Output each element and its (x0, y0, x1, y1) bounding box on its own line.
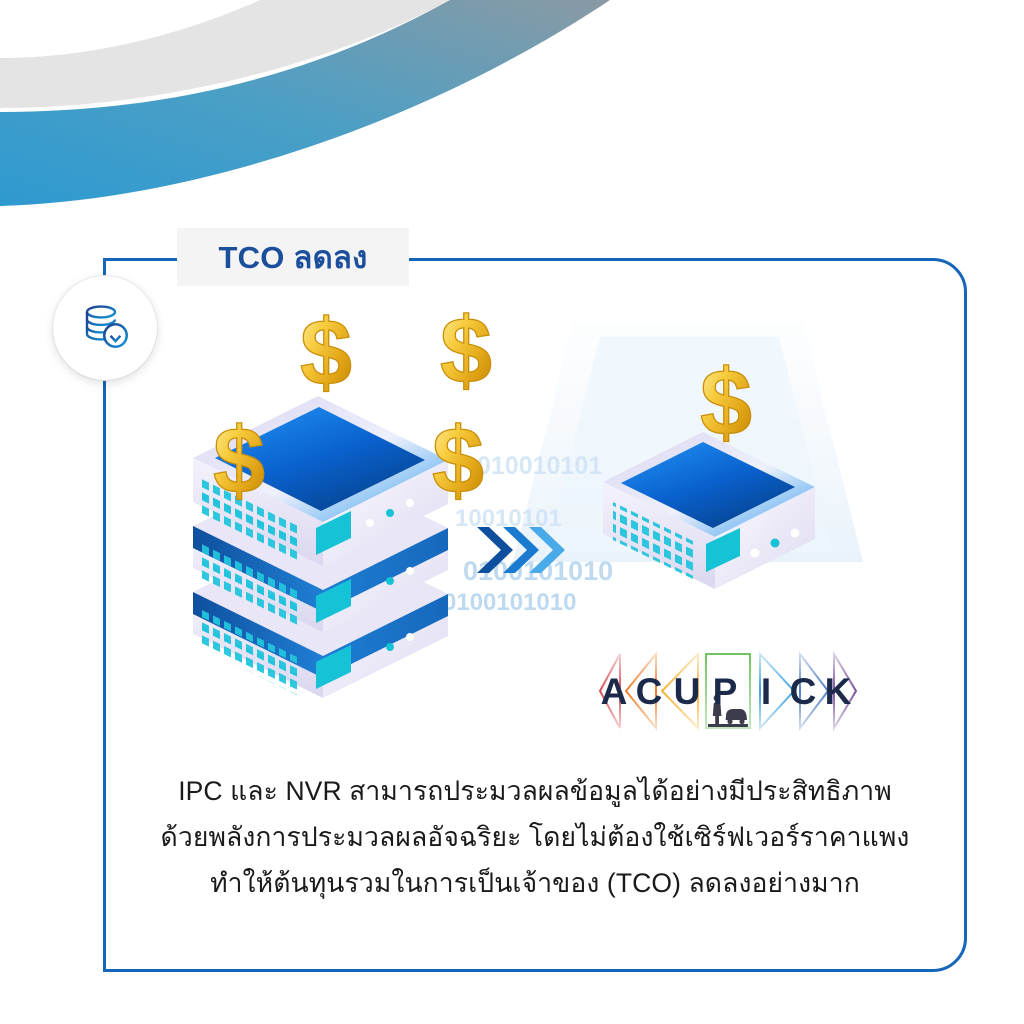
body-line-2: ด้วยพลังการประมวลผลอัจฉริยะ โดยไม่ต้องใช… (103, 814, 967, 860)
database-savings-icon (77, 298, 133, 359)
dollar-sign-icon (213, 408, 265, 513)
logo-letter: C (790, 671, 817, 712)
logo-letter: C (636, 671, 663, 712)
dollar-sign-icon (300, 300, 352, 405)
logo-letter: A (601, 671, 628, 712)
acupick-logo: A C U P I C K (598, 648, 860, 740)
logo-letter: K (825, 671, 852, 712)
body-line-1: IPC และ NVR สามารถประมวลผลข้อมูลได้อย่าง… (103, 768, 967, 814)
dollar-sign-icon (432, 408, 484, 513)
logo-letter: U (674, 671, 701, 712)
body-paragraph: IPC และ NVR สามารถประมวลผลข้อมูลได้อย่าง… (103, 768, 967, 906)
dollar-sign-icon (440, 298, 492, 403)
body-line-3: ทำให้ต้นทุนรวมในการเป็นเจ้าของ (TCO) ลดล… (103, 860, 967, 906)
section-title-band: TCO ลดลง (177, 228, 409, 286)
svg-text:010010101: 010010101 (477, 452, 602, 480)
dollar-sign-icon (700, 350, 752, 455)
svg-text:0100101010: 0100101010 (443, 589, 576, 616)
feature-badge (53, 276, 157, 380)
header-wave-decoration (0, 0, 1024, 240)
logo-letter: I (761, 671, 771, 712)
logo-letter: P (713, 671, 738, 712)
page-title: TCO ลดลง (219, 242, 368, 273)
